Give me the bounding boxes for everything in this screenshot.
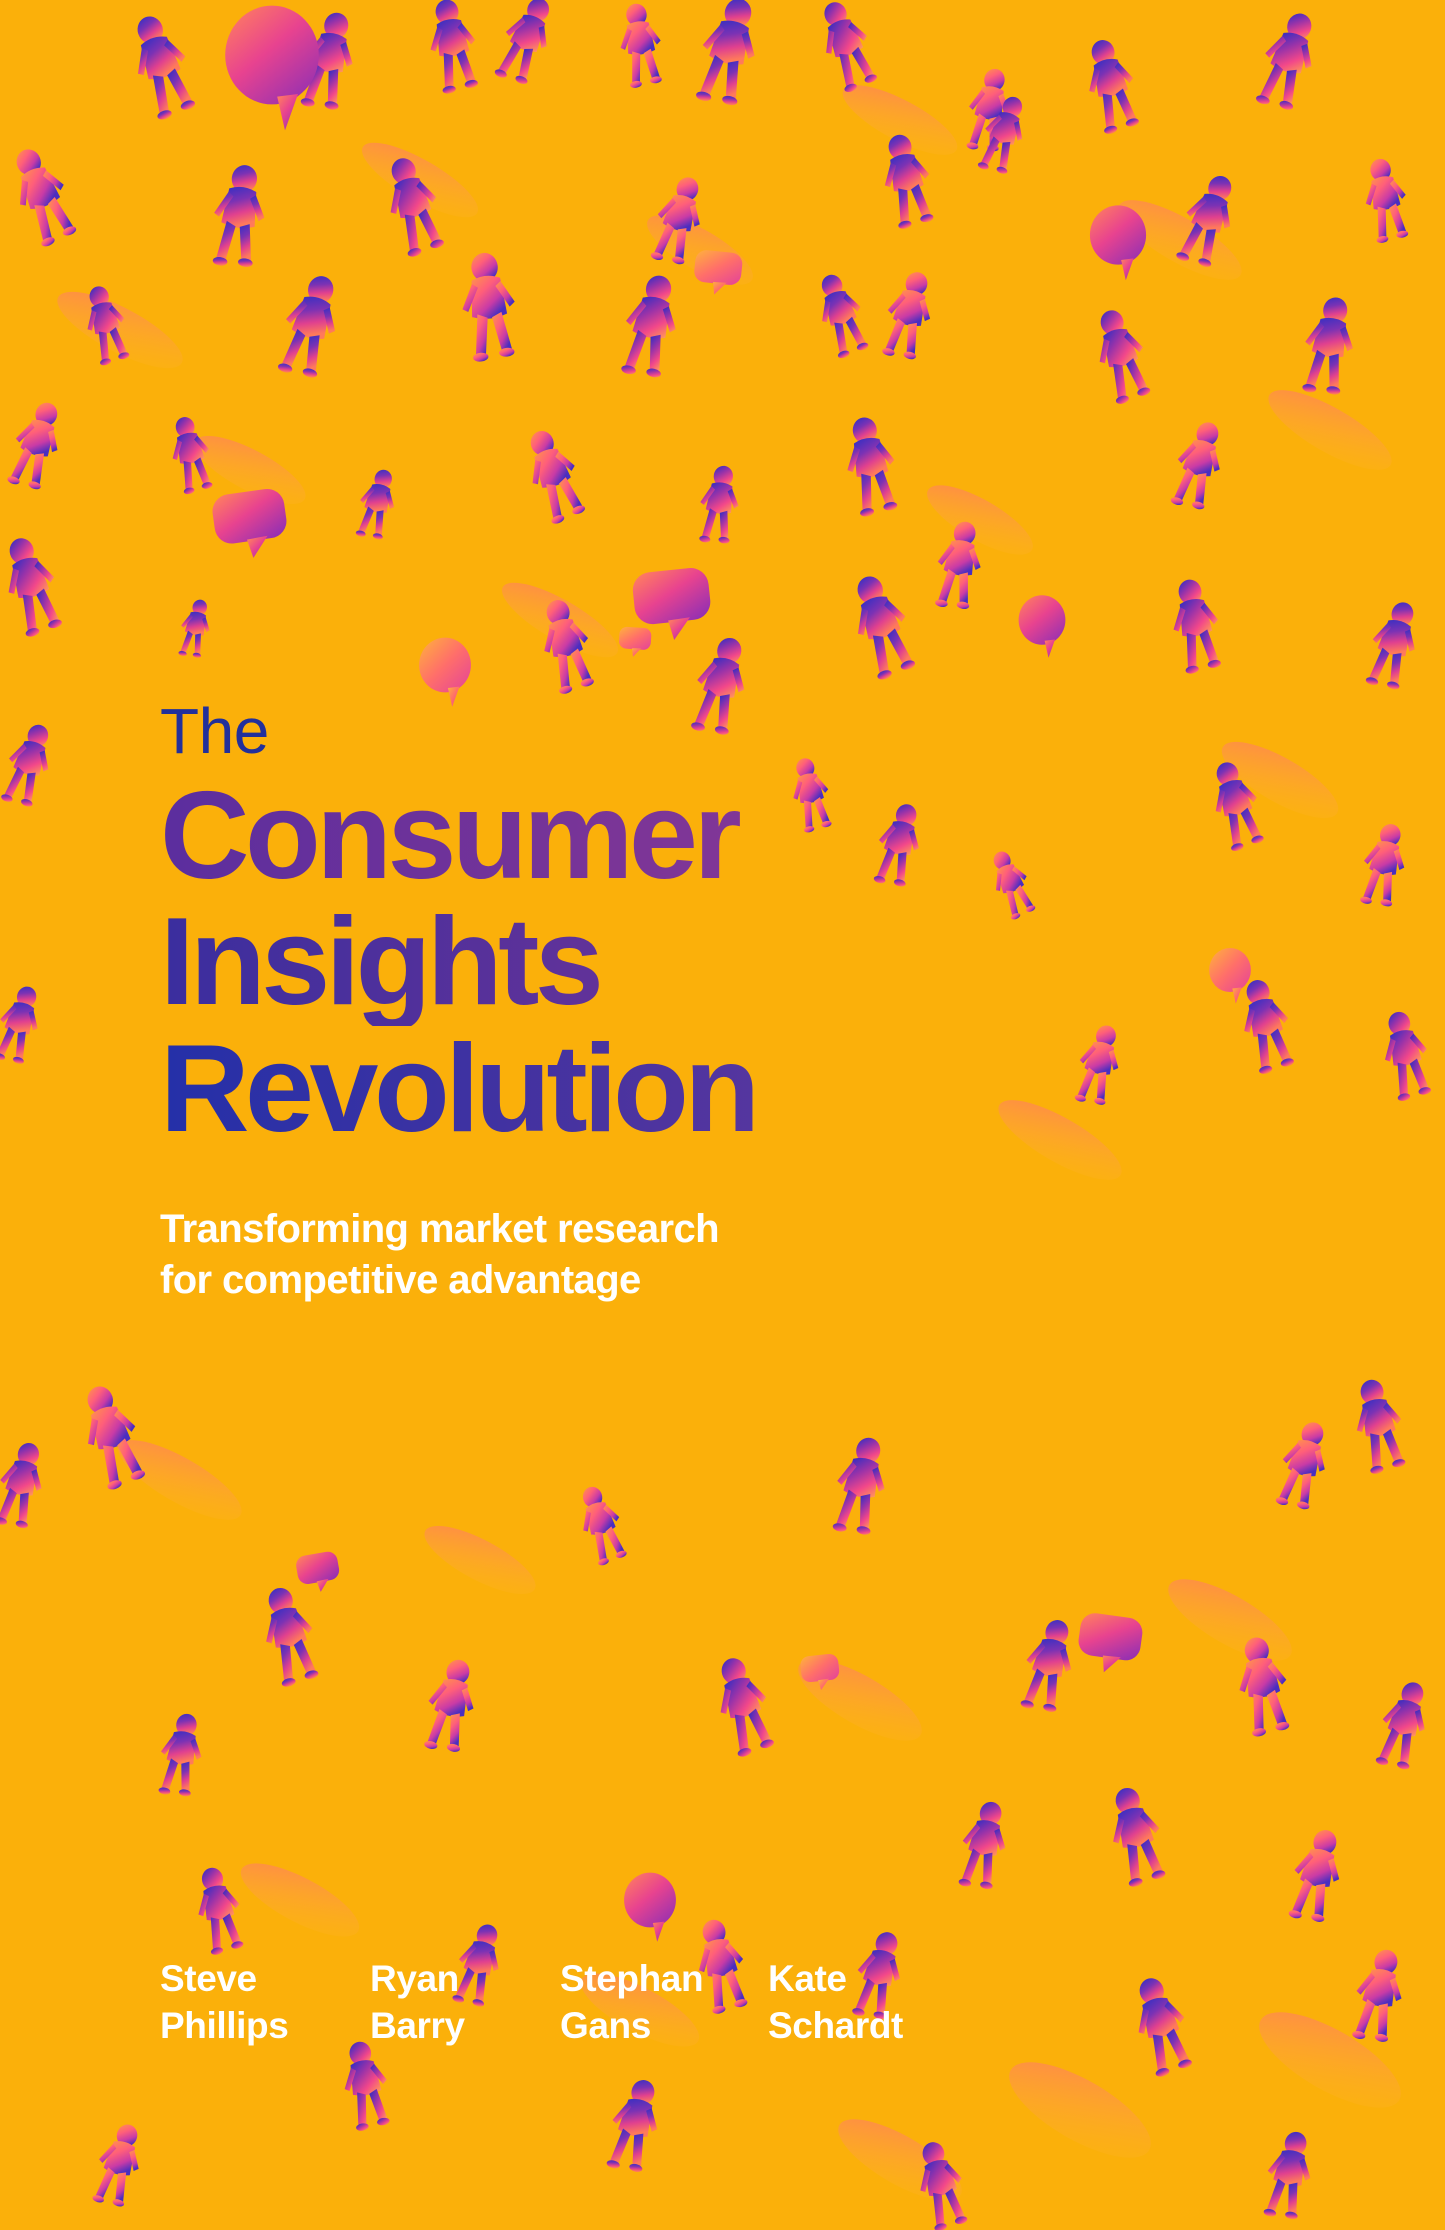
- author-list: Steve Phillips Ryan Barry Stephan Gans K…: [160, 1955, 1340, 2095]
- cover-text-block: The Consumer Insights Revolution Transfo…: [160, 700, 1280, 1307]
- author-2-first: Ryan: [370, 1955, 465, 2002]
- author-3-first: Stephan: [560, 1955, 703, 2002]
- title-line-1: Consumer: [160, 773, 1280, 899]
- subtitle-line-2: for competitive advantage: [160, 1255, 1280, 1306]
- author-3-last: Gans: [560, 2002, 703, 2049]
- book-cover: The Consumer Insights Revolution Transfo…: [0, 0, 1445, 2230]
- author-4-last: Schardt: [768, 2002, 903, 2049]
- title-article: The: [160, 700, 1280, 763]
- author-4: Kate Schardt: [768, 1955, 903, 2050]
- author-1-last: Phillips: [160, 2002, 288, 2049]
- author-2-last: Barry: [370, 2002, 465, 2049]
- author-3: Stephan Gans: [560, 1955, 703, 2050]
- author-2: Ryan Barry: [370, 1955, 465, 2050]
- author-4-first: Kate: [768, 1955, 903, 2002]
- author-1: Steve Phillips: [160, 1955, 288, 2050]
- subtitle: Transforming market research for competi…: [160, 1204, 1280, 1306]
- title-line-2: Insights: [160, 899, 1280, 1025]
- author-1-first: Steve: [160, 1955, 288, 2002]
- title-line-3: Revolution: [160, 1026, 1280, 1152]
- subtitle-line-1: Transforming market research: [160, 1204, 1280, 1255]
